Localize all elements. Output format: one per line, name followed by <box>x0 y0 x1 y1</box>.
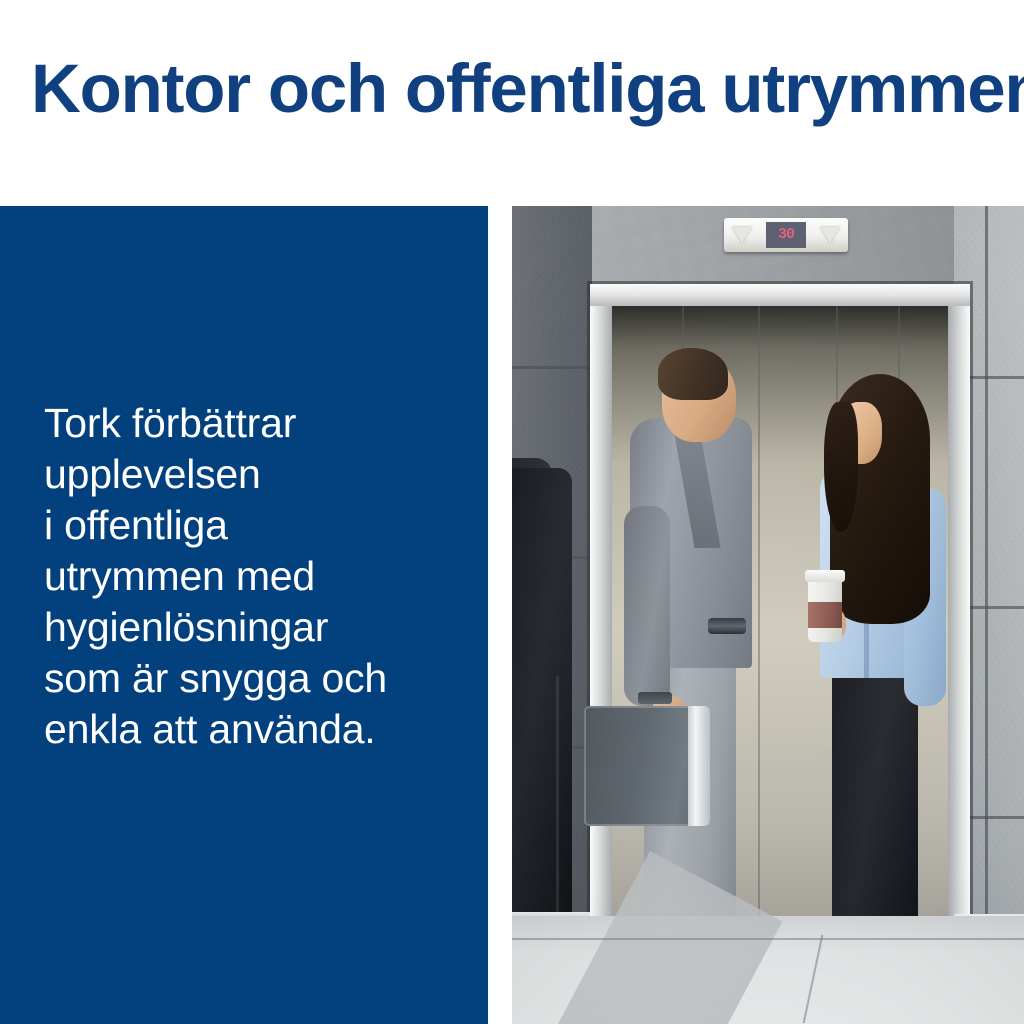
coffee-cup-sleeve <box>808 602 842 628</box>
blue-text-panel: Tork förbättrar upplevelsen i offentliga… <box>0 206 488 1024</box>
header-band: Kontor och offentliga utrymmen <box>0 0 1024 206</box>
passerby-leg <box>512 468 572 968</box>
briefcase-handle <box>638 692 672 704</box>
wall-joint <box>985 206 988 966</box>
elevator-lintel <box>590 284 970 306</box>
page-title: Kontor och offentliga utrymmen <box>31 50 1011 128</box>
businessman-arm <box>624 506 670 706</box>
floor-readout-display: 30 <box>766 222 806 248</box>
businessman-leg-seam <box>556 676 559 946</box>
arrow-down-icon <box>732 227 752 243</box>
businessman-wristwatch <box>708 618 746 634</box>
aluminium-briefcase <box>584 706 710 826</box>
panel-body-text: Tork förbättrar upplevelsen i offentliga… <box>44 398 464 755</box>
coffee-cup-lid <box>805 570 845 582</box>
arrow-down-icon <box>820 227 840 243</box>
briefcase-edge <box>688 706 710 826</box>
floor-seam <box>512 938 1024 940</box>
wall-joint <box>512 366 592 369</box>
businesswoman-hair-front <box>824 402 858 532</box>
page-root: Kontor och offentliga utrymmen Tork förb… <box>0 0 1024 1024</box>
elevator-indicator-panel[interactable]: 30 <box>724 218 848 252</box>
floor-seam <box>803 935 824 1023</box>
lobby-marble-floor <box>512 916 1024 1024</box>
coffee-cup <box>808 576 842 642</box>
businessman-hair <box>658 348 728 400</box>
lobby-elevator-photo: 30 <box>512 206 1024 1024</box>
